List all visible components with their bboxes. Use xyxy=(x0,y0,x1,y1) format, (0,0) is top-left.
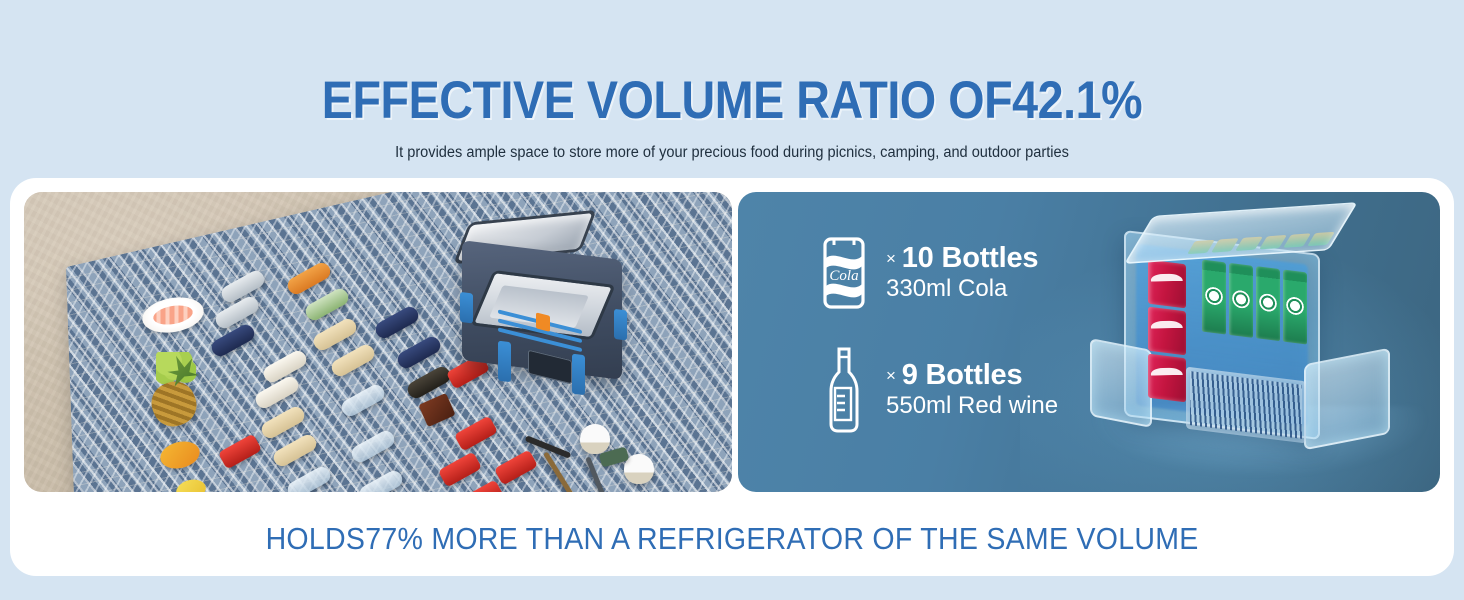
picnic-photo xyxy=(24,192,732,492)
bottom-banner-text: HOLDS77% MORE THAN A REFRIGERATOR OF THE… xyxy=(266,521,1199,557)
capacity-panel: Cola ×10 Bottles 330ml Cola xyxy=(738,192,1440,492)
cooler-latch xyxy=(536,312,550,331)
capacity-count-line: ×9 Bottles xyxy=(886,359,1058,392)
bottom-banner: HOLDS77% MORE THAN A REFRIGERATOR OF THE… xyxy=(10,502,1454,576)
capacity-count: 9 Bottles xyxy=(902,359,1023,391)
xray-beer-bottles xyxy=(1202,260,1307,345)
wine-bottle-icon xyxy=(816,346,872,434)
cooler-handle-right xyxy=(614,309,627,341)
beer-bottle xyxy=(1283,269,1307,344)
cola-can xyxy=(1148,307,1186,356)
capacity-detail: 550ml Red wine xyxy=(886,392,1058,421)
capacity-spec-cola: Cola ×10 Bottles 330ml Cola xyxy=(816,236,1136,310)
header: EFFECTIVE VOLUME RATIO OF42.1% It provid… xyxy=(0,0,1464,178)
beer-bottle xyxy=(1202,260,1226,335)
capacity-spec-list: Cola ×10 Bottles 330ml Cola xyxy=(816,236,1136,470)
capacity-count: 10 Bottles xyxy=(902,242,1039,274)
cola-can-icon: Cola xyxy=(816,236,872,310)
capacity-count-line: ×10 Bottles xyxy=(886,242,1038,275)
cooler-control-panel xyxy=(528,350,572,385)
portable-cooler xyxy=(456,216,646,388)
multiplier-symbol: × xyxy=(886,366,896,385)
svg-text:Cola: Cola xyxy=(829,268,858,284)
cooler-handle-left xyxy=(460,292,473,324)
cooler-body xyxy=(462,240,622,380)
multiplier-symbol: × xyxy=(886,249,896,268)
capacity-detail: 330ml Cola xyxy=(886,275,1038,304)
enamel-cup xyxy=(580,424,610,454)
beer-bottle xyxy=(1229,263,1253,338)
xray-side-pod-right xyxy=(1304,348,1390,451)
cooler-xray-render xyxy=(1090,206,1430,484)
page-subtitle: It provides ample space to store more of… xyxy=(44,144,1420,162)
capacity-spec-wine: ×9 Bottles 550ml Red wine xyxy=(816,346,1136,434)
cooler-side-panel-right xyxy=(572,354,585,396)
cooler-side-panel-left xyxy=(498,341,511,383)
xray-cola-cans xyxy=(1148,260,1186,406)
xray-side-pod-left xyxy=(1090,338,1152,428)
enamel-cup xyxy=(624,454,654,484)
cola-can xyxy=(1148,354,1186,403)
cola-can xyxy=(1148,260,1186,309)
capacity-spec-text: ×9 Bottles 550ml Red wine xyxy=(886,359,1058,421)
capacity-spec-text: ×10 Bottles 330ml Cola xyxy=(886,242,1038,304)
page-title: EFFECTIVE VOLUME RATIO OF42.1% xyxy=(88,74,1376,127)
beer-bottle xyxy=(1256,266,1280,341)
xray-lid xyxy=(1124,202,1358,264)
